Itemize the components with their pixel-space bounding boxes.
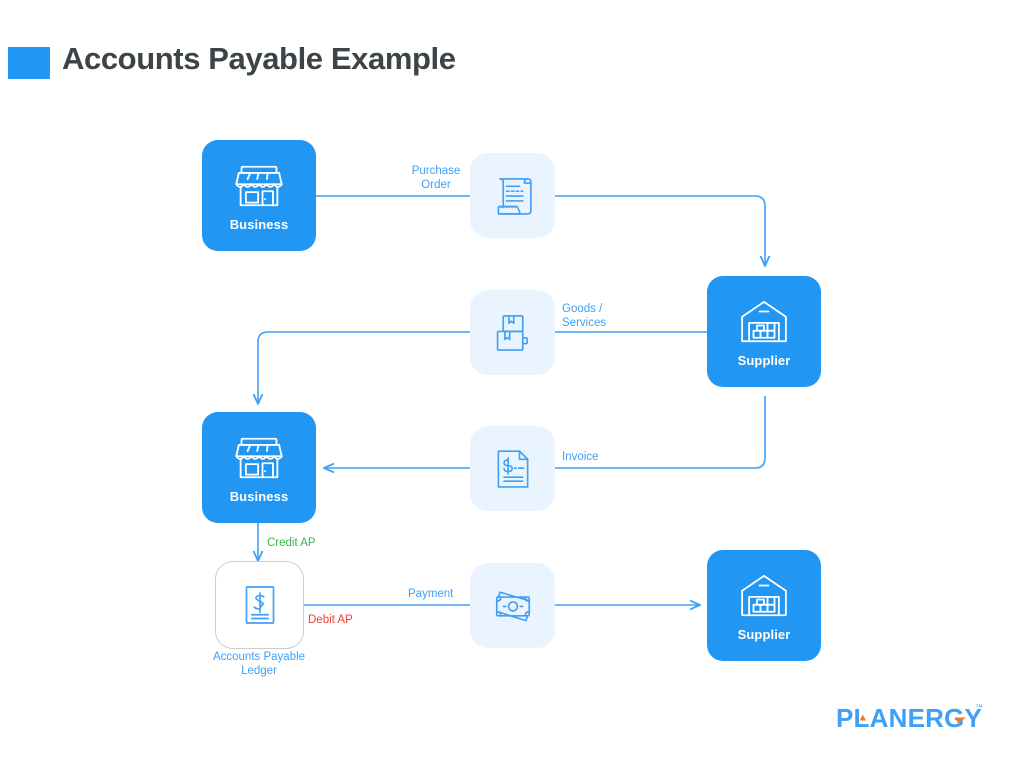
node-label: Supplier [738,354,791,369]
warehouse-icon [736,568,792,624]
scroll-document-icon [487,170,539,222]
node-label-ap-ledger: Accounts Payable Ledger [193,650,325,679]
node-business-top[interactable]: Business [202,140,316,251]
wire-po-to-supplier [555,196,765,266]
planergy-logo: PLANERGY [836,703,988,735]
node-label: Supplier [738,628,791,643]
node-business-mid[interactable]: Business [202,412,316,523]
edge-label-goods-services: Goods / Services [562,302,634,331]
node-goods-services-tile[interactable] [470,290,555,375]
edge-label-invoice: Invoice [562,450,642,464]
storefront-icon [231,158,287,214]
node-label: Business [230,218,289,233]
ledger-document-icon [236,579,284,631]
banknotes-icon [487,580,539,632]
brand-trademark: ™ [975,703,983,712]
storefront-icon [231,430,287,486]
edge-label-purchase-order: Purchase Order [404,164,468,193]
node-supplier-bottom[interactable]: Supplier [707,550,821,661]
node-purchase-order-tile[interactable] [470,153,555,238]
node-invoice-tile[interactable] [470,426,555,511]
accounts-payable-flowchart: Business Purchase Order [0,0,1024,773]
connector-lines [0,0,1024,773]
wire-goods-to-business [258,332,470,404]
edge-label-debit-ap: Debit AP [308,613,353,627]
warehouse-icon [736,294,792,350]
edge-label-credit-ap: Credit AP [267,536,316,550]
node-ap-ledger-tile[interactable] [215,561,304,649]
node-supplier-top[interactable]: Supplier [707,276,821,387]
node-label: Business [230,490,289,505]
edge-label-payment: Payment [408,587,453,601]
node-payment-tile[interactable] [470,563,555,648]
invoice-document-icon [487,443,539,495]
boxes-icon [487,307,539,359]
